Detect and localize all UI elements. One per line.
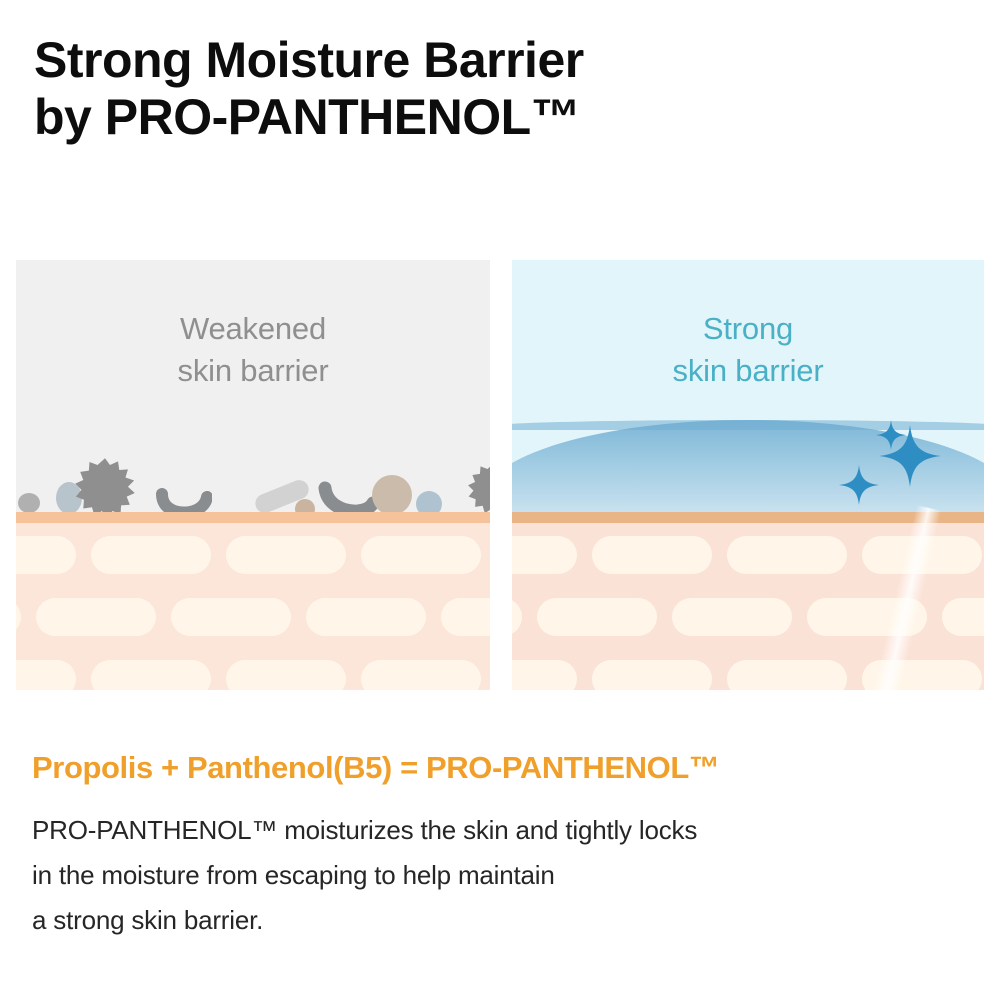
brick-row-3: [16, 660, 490, 690]
body-line-3: a strong skin barrier.: [32, 898, 932, 943]
panel-weakened-barrier: Weakened skin barrier: [16, 260, 490, 690]
brick-row-1: [512, 536, 984, 574]
weakened-label-line-1: Weakened: [180, 311, 326, 346]
page-title: Strong Moisture Barrier by PRO-PANTHENOL…: [34, 32, 934, 146]
virus-spiky-edge-icon: [467, 462, 490, 516]
brick: [862, 660, 982, 690]
panel-strong-barrier: Strong skin barrier: [512, 260, 984, 690]
strong-barrier-label: Strong skin barrier: [512, 308, 984, 392]
brick: [226, 660, 346, 690]
brick: [672, 598, 792, 636]
brick: [16, 598, 21, 636]
weakened-label-line-2: skin barrier: [16, 350, 490, 392]
brick: [361, 536, 481, 574]
brick: [727, 660, 847, 690]
formula-headline: Propolis + Panthenol(B5) = PRO-PANTHENOL…: [32, 750, 719, 786]
brick-row-2: [16, 598, 490, 636]
brick: [862, 536, 982, 574]
skin-layer-right: [512, 512, 984, 690]
brick: [16, 536, 76, 574]
headline-line-1: Strong Moisture Barrier: [34, 32, 584, 88]
sparkle-small-left-icon: [839, 465, 879, 505]
brick-row-1: [16, 536, 490, 574]
brick: [171, 598, 291, 636]
brick-row-2: [512, 598, 984, 636]
virus-spiky-large-icon: [74, 457, 136, 519]
brick: [91, 660, 211, 690]
headline-line-2: by PRO-PANTHENOL™: [34, 89, 934, 146]
brick-row-3: [512, 660, 984, 690]
weakened-barrier-label: Weakened skin barrier: [16, 308, 490, 392]
brick: [512, 536, 577, 574]
strong-label-line-1: Strong: [703, 311, 793, 346]
brick: [441, 598, 490, 636]
skin-surface-band-left: [16, 512, 490, 523]
brick: [592, 660, 712, 690]
brick: [537, 598, 657, 636]
marketing-graphic: Strong Moisture Barrier by PRO-PANTHENOL…: [0, 0, 1000, 1000]
sparkle-large-visible-icon: [879, 425, 941, 487]
brick: [91, 536, 211, 574]
brick: [361, 660, 481, 690]
skin-surface-band-right: [512, 512, 984, 523]
skin-layer-left: [16, 512, 490, 690]
brick: [942, 598, 984, 636]
blob-beige-large-icon: [372, 475, 412, 515]
body-line-2: in the moisture from escaping to help ma…: [32, 853, 932, 898]
blob-gray-small-icon: [18, 493, 40, 513]
brick: [226, 536, 346, 574]
brick: [306, 598, 426, 636]
brick: [512, 598, 522, 636]
brick: [16, 660, 76, 690]
brick: [512, 660, 577, 690]
brick: [727, 536, 847, 574]
brick: [592, 536, 712, 574]
brick: [36, 598, 156, 636]
body-description: PRO-PANTHENOL™ moisturizes the skin and …: [32, 808, 932, 943]
body-line-1: PRO-PANTHENOL™ moisturizes the skin and …: [32, 808, 932, 853]
brick: [807, 598, 927, 636]
strong-label-line-2: skin barrier: [512, 350, 984, 392]
